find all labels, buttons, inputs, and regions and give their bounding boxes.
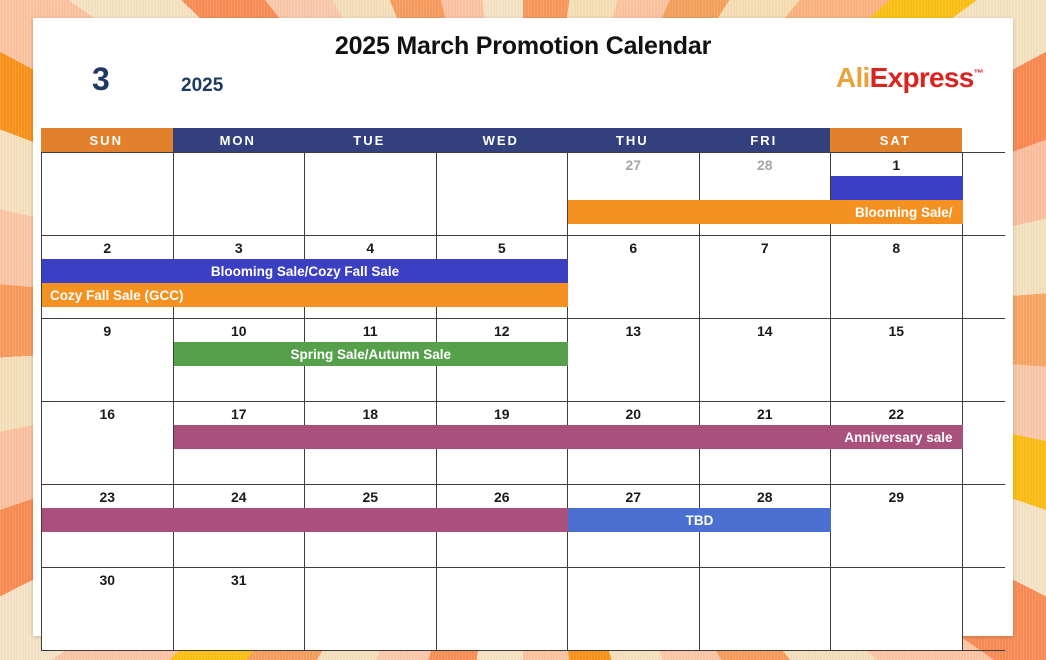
event-bar-label: Blooming Sale/Cozy Fall Sale: [211, 264, 399, 279]
event-bar[interactable]: Cozy Fall Sale (GCC): [42, 283, 568, 307]
day-number: 19: [437, 402, 568, 421]
event-bar[interactable]: Blooming Sale/: [568, 200, 963, 224]
day-number: 24: [174, 485, 305, 504]
day-number: 12: [437, 319, 568, 338]
calendar-weeks: 27281Blooming Sale/2345678Blooming Sale/…: [41, 152, 1005, 651]
calendar-card: 2025 March Promotion Calendar 3 2025 Ali…: [33, 18, 1013, 636]
day-number: 11: [305, 319, 436, 338]
day-number: 6: [568, 236, 699, 255]
calendar-day-cell[interactable]: 31: [174, 568, 306, 650]
calendar-day-cell[interactable]: [305, 153, 437, 235]
event-bar[interactable]: [42, 508, 568, 532]
day-number: 16: [42, 402, 173, 421]
year-label: 2025: [181, 75, 223, 97]
calendar-day-cell[interactable]: [305, 568, 437, 650]
day-header-mon: MON: [173, 128, 305, 152]
day-header-thu: THU: [567, 128, 699, 152]
day-number: 27: [568, 153, 699, 172]
calendar-week-row: 2345678Blooming Sale/Cozy Fall SaleCozy …: [41, 235, 1005, 318]
event-bar-label: Anniversary sale: [844, 430, 952, 445]
aliexpress-logo: AliExpress™: [836, 62, 983, 94]
calendar-day-cell[interactable]: 13: [568, 319, 700, 401]
event-bar-label: TBD: [686, 513, 714, 528]
calendar-day-cell[interactable]: 15: [831, 319, 963, 401]
calendar-day-cell[interactable]: 6: [568, 236, 700, 318]
calendar-day-cell[interactable]: 16: [42, 402, 174, 484]
day-number: 22: [831, 402, 962, 421]
day-number: 20: [568, 402, 699, 421]
event-bar[interactable]: TBD: [568, 508, 831, 532]
calendar-week-row: 23242526272829TBD: [41, 484, 1005, 567]
calendar-day-cell[interactable]: 14: [700, 319, 832, 401]
day-number: 29: [831, 485, 962, 504]
calendar-day-cell[interactable]: [568, 568, 700, 650]
day-number: 15: [831, 319, 962, 338]
day-header-fri: FRI: [699, 128, 831, 152]
calendar-grid: SUNMONTUEWEDTHUFRISAT 27281Blooming Sale…: [41, 128, 1005, 651]
day-number: 5: [437, 236, 568, 255]
event-bar[interactable]: [831, 176, 963, 200]
day-number: 30: [42, 568, 173, 587]
day-number: 9: [42, 319, 173, 338]
day-number: 17: [174, 402, 305, 421]
day-number: 4: [305, 236, 436, 255]
day-number: 14: [700, 319, 831, 338]
day-header-sat: SAT: [830, 128, 962, 152]
day-number: 28: [700, 485, 831, 504]
calendar-day-cell[interactable]: [831, 568, 963, 650]
event-bar[interactable]: Anniversary sale: [174, 425, 963, 449]
calendar-day-cell[interactable]: [700, 568, 832, 650]
calendar-week-row: 27281Blooming Sale/: [41, 152, 1005, 235]
event-bar[interactable]: Blooming Sale/Cozy Fall Sale: [42, 259, 568, 283]
calendar-day-cell[interactable]: [42, 153, 174, 235]
day-number: 3: [174, 236, 305, 255]
calendar-day-cell[interactable]: [174, 153, 306, 235]
day-header-wed: WED: [436, 128, 568, 152]
event-bar-label: Blooming Sale/: [855, 205, 953, 220]
day-number: 23: [42, 485, 173, 504]
day-number: 25: [305, 485, 436, 504]
day-number: 2: [42, 236, 173, 255]
calendar-day-cell[interactable]: 30: [42, 568, 174, 650]
event-bar-label: Cozy Fall Sale (GCC): [50, 288, 184, 303]
calendar-day-cell[interactable]: 8: [831, 236, 963, 318]
page-background: 2025 March Promotion Calendar 3 2025 Ali…: [0, 0, 1046, 660]
logo-trademark-icon: ™: [974, 69, 983, 80]
calendar-day-cell[interactable]: [437, 153, 569, 235]
day-number: 1: [831, 153, 962, 172]
day-header-sun: SUN: [41, 128, 173, 152]
day-number: 28: [700, 153, 831, 172]
event-bar-label: Spring Sale/Autumn Sale: [290, 347, 451, 362]
calendar-day-cell[interactable]: 29: [831, 485, 963, 567]
day-number: 27: [568, 485, 699, 504]
day-number: 18: [305, 402, 436, 421]
calendar-day-cell[interactable]: [437, 568, 569, 650]
day-number: 7: [700, 236, 831, 255]
calendar-day-cell[interactable]: 9: [42, 319, 174, 401]
day-number: 26: [437, 485, 568, 504]
day-number: 8: [831, 236, 962, 255]
day-number: 21: [700, 402, 831, 421]
calendar-week-row: 3031: [41, 567, 1005, 651]
day-number: 31: [174, 568, 305, 587]
logo-express-text: Express: [870, 62, 974, 93]
day-number: 13: [568, 319, 699, 338]
logo-ali-text: Ali: [836, 62, 870, 93]
calendar-week-row: 9101112131415Spring Sale/Autumn Sale: [41, 318, 1005, 401]
calendar-week-row: 16171819202122Anniversary sale: [41, 401, 1005, 484]
day-of-week-header-row: SUNMONTUEWEDTHUFRISAT: [41, 128, 1005, 152]
month-number: 3: [92, 61, 110, 98]
calendar-day-cell[interactable]: 7: [700, 236, 832, 318]
calendar-subheader: 3 2025 AliExpress™: [33, 61, 1013, 107]
day-header-tue: TUE: [304, 128, 436, 152]
event-bar[interactable]: Spring Sale/Autumn Sale: [174, 342, 569, 366]
day-number: 10: [174, 319, 305, 338]
page-title: 2025 March Promotion Calendar: [33, 18, 1013, 61]
